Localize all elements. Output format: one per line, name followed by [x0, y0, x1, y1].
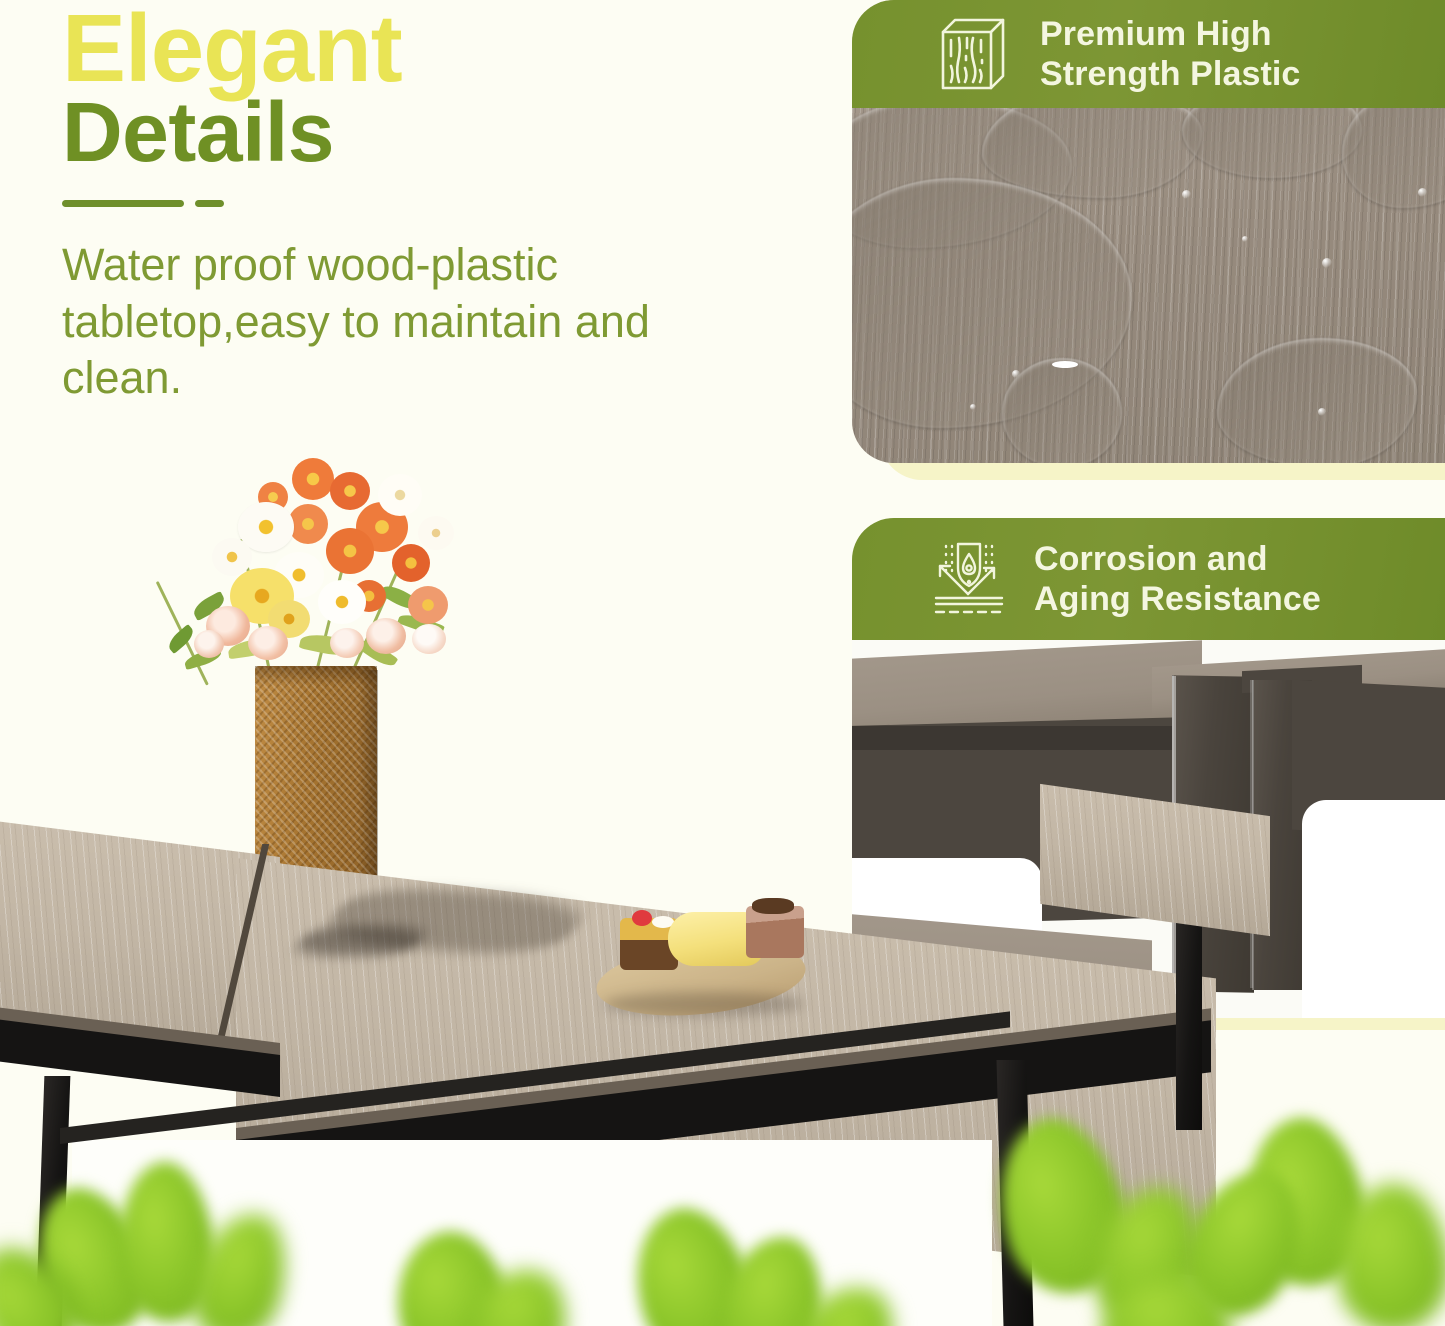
subtitle-text: Water proof wood-plastic tabletop,easy t… [62, 237, 762, 407]
infographic-canvas: Elegant Details Water proof wood-plastic… [0, 0, 1445, 1326]
cherry-topping [632, 910, 652, 926]
wood-block-icon [936, 12, 1014, 96]
table-leg-rear-right [1176, 910, 1202, 1130]
panel-1-photo-wet-texture [852, 108, 1445, 463]
feature-panel-premium-plastic: Premium High Strength Plastic [852, 0, 1445, 463]
board-shadow [604, 992, 804, 1016]
headline-block: Elegant Details Water proof wood-plastic… [62, 0, 822, 407]
divider-dash-long [62, 200, 184, 207]
page-title-line2: Details [62, 90, 822, 174]
divider-dash-short [195, 200, 224, 207]
panel-1-title: Premium High Strength Plastic [1040, 14, 1300, 94]
title-divider [62, 200, 822, 207]
table-top-rear-fragment [1040, 784, 1270, 936]
page-title-line1: Elegant [62, 2, 822, 96]
chocolate-topping [752, 898, 794, 914]
panel-1-header: Premium High Strength Plastic [852, 0, 1445, 108]
